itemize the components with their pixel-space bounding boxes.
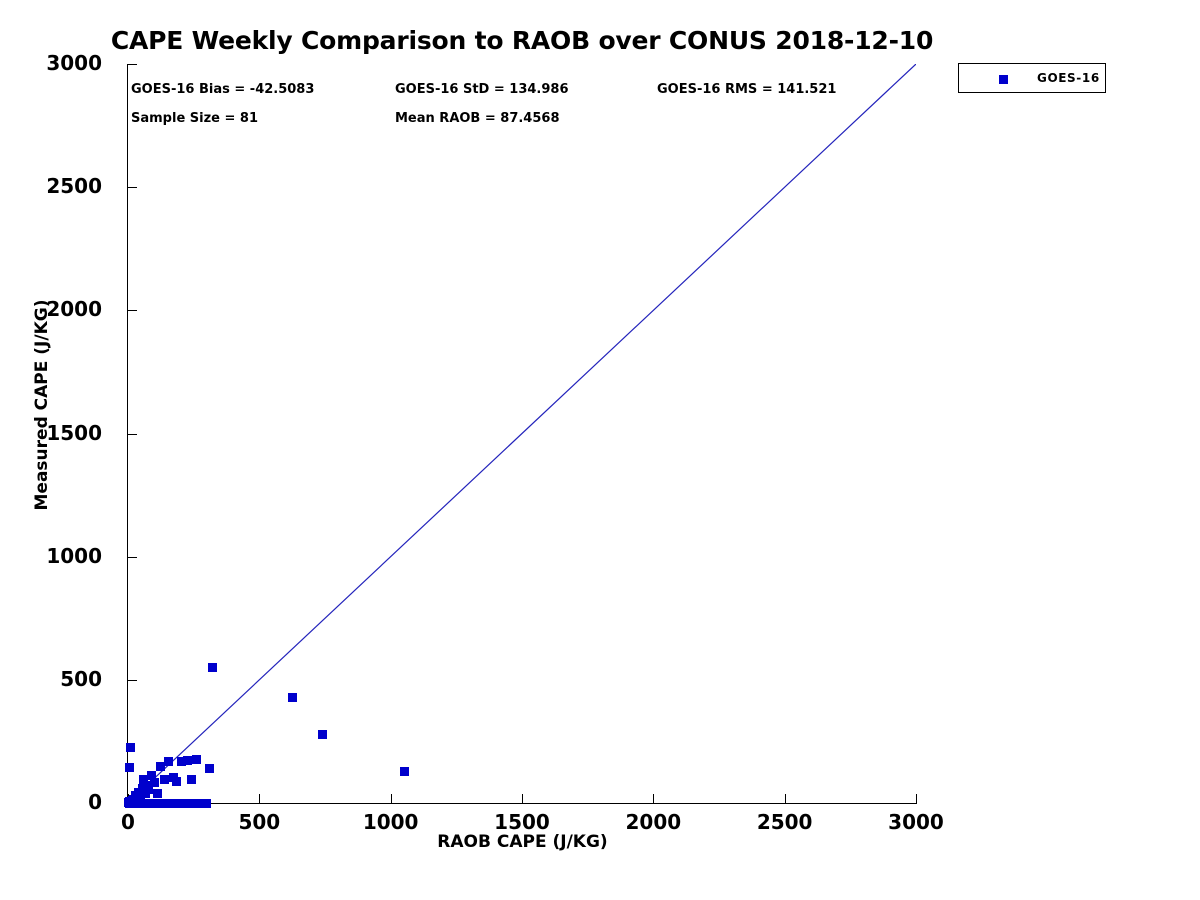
x-tick-label-2000: 2000 [593, 810, 713, 834]
y-tick-label-2500: 2500 [2, 174, 102, 198]
scatter-point [164, 757, 173, 766]
legend-label-goes-16: GOES-16 [1037, 71, 1100, 85]
x-axis-label: RAOB CAPE (J/KG) [128, 832, 917, 852]
x-tick-label-3000: 3000 [856, 810, 976, 834]
scatter-point [172, 777, 181, 786]
x-tick-label-500: 500 [199, 810, 319, 834]
chart-title: CAPE Weekly Comparison to RAOB over CONU… [0, 26, 1044, 55]
y-tick-label-1000: 1000 [2, 544, 102, 568]
legend-swatch-goes-16 [999, 75, 1008, 84]
y-tick-label-3000: 3000 [2, 51, 102, 75]
x-tick-label-1500: 1500 [462, 810, 582, 834]
scatter-point [187, 775, 196, 784]
scatter-point [126, 743, 135, 752]
scatter-point [208, 663, 217, 672]
chart-legend[interactable]: GOES-16 [958, 63, 1106, 93]
scatter-point [153, 789, 162, 798]
scatter-point [183, 756, 192, 765]
y-tick-label-1500: 1500 [2, 421, 102, 445]
x-axis-spine [128, 803, 917, 804]
scatter-point [400, 767, 409, 776]
scatter-point [150, 778, 159, 787]
x-tick-label-2500: 2500 [725, 810, 845, 834]
scatter-point [288, 693, 297, 702]
scatter-point [318, 730, 327, 739]
x-tick-3000 [916, 794, 917, 803]
scatter-point [205, 764, 214, 773]
scatter-point [192, 755, 201, 764]
x-tick-label-1000: 1000 [331, 810, 451, 834]
x-tick-label-0: 0 [68, 810, 188, 834]
y-axis-label: Measured CAPE (J/KG) [32, 245, 52, 565]
chart-figure: CAPE Weekly Comparison to RAOB over CONU… [0, 0, 1200, 900]
y-tick-label-500: 500 [2, 667, 102, 691]
scatter-point [125, 763, 134, 772]
one-to-one-reference-line [128, 64, 916, 803]
plot-area [128, 64, 916, 803]
scatter-point [202, 799, 211, 808]
y-tick-label-2000: 2000 [2, 297, 102, 321]
